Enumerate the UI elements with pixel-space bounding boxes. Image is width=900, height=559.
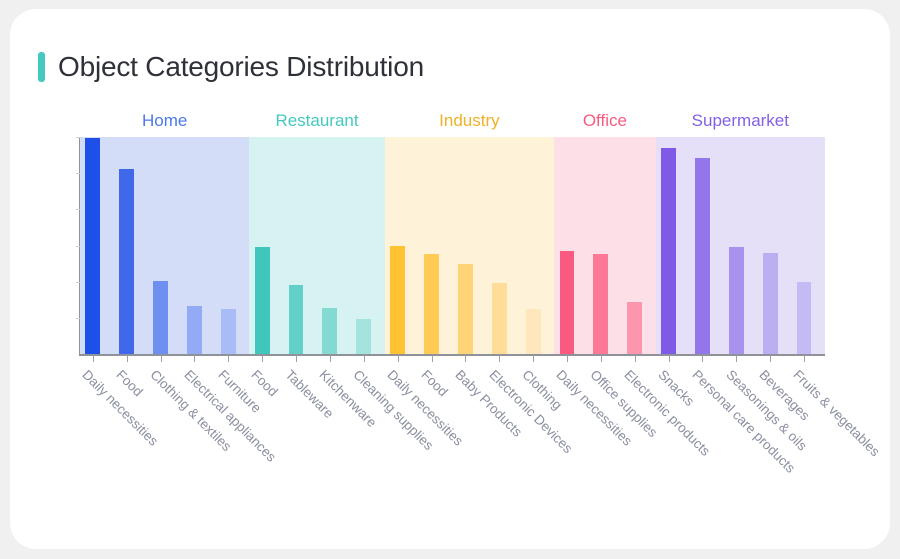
x-axis-tick-mark: [567, 355, 568, 362]
bar: [119, 169, 134, 354]
x-axis-tick-mark: [432, 355, 433, 362]
x-axis-line: [79, 354, 825, 356]
bar: [390, 246, 405, 355]
x-axis-tick-mark: [194, 355, 195, 362]
x-axis-tick-mark: [364, 355, 365, 362]
x-axis-tick-mark: [330, 355, 331, 362]
bar: [661, 148, 676, 354]
y-axis-tick-mark: [76, 282, 80, 283]
x-axis-tick-mark: [127, 355, 128, 362]
bar: [153, 281, 168, 354]
x-axis-tick-mark: [669, 355, 670, 362]
x-axis-tick-mark: [770, 355, 771, 362]
title-accent-bar: [38, 52, 45, 82]
page-title: Object Categories Distribution: [58, 51, 424, 83]
x-axis-tick-mark: [161, 355, 162, 362]
bar: [322, 308, 337, 354]
bar: [560, 251, 575, 354]
x-axis-tick-mark: [736, 355, 737, 362]
bar: [289, 285, 304, 354]
y-axis-tick-mark: [76, 137, 80, 138]
x-axis-tick-mark: [601, 355, 602, 362]
y-axis-tick-mark: [76, 209, 80, 210]
bar: [356, 319, 371, 354]
bar: [695, 158, 710, 354]
bar: [255, 247, 270, 354]
x-axis-tick-mark: [398, 355, 399, 362]
group-label-supermarket: Supermarket: [692, 111, 789, 131]
x-axis-tick-mark: [296, 355, 297, 362]
x-axis-tick-mark: [533, 355, 534, 362]
x-axis-tick-mark: [93, 355, 94, 362]
group-label-office: Office: [583, 111, 627, 131]
bar: [492, 283, 507, 354]
y-axis-tick-mark: [76, 246, 80, 247]
bar: [526, 309, 541, 354]
x-axis-tick-mark: [262, 355, 263, 362]
x-axis-tick-mark: [702, 355, 703, 362]
chart-header: Object Categories Distribution: [38, 47, 424, 87]
chart-plot-area: Amount 050100150200250300 Daily necessit…: [80, 137, 825, 354]
bar: [424, 254, 439, 354]
bar: [729, 247, 744, 354]
bar: [593, 254, 608, 354]
bar: [187, 306, 202, 354]
chart-card: Object Categories Distribution Amount 05…: [10, 9, 890, 549]
y-axis-tick-mark: [76, 318, 80, 319]
group-label-home: Home: [142, 111, 187, 131]
x-axis-tick-mark: [804, 355, 805, 362]
bar: [458, 264, 473, 354]
group-label-industry: Industry: [439, 111, 499, 131]
x-axis-tick-mark: [635, 355, 636, 362]
x-axis-tick-mark: [465, 355, 466, 362]
bar: [797, 282, 812, 354]
y-axis-tick-mark: [76, 173, 80, 174]
bar: [85, 138, 100, 354]
bar: [221, 309, 236, 354]
bar: [627, 302, 642, 354]
x-axis-tick-mark: [228, 355, 229, 362]
x-axis-tick-mark: [499, 355, 500, 362]
bar: [763, 253, 778, 354]
group-label-restaurant: Restaurant: [275, 111, 358, 131]
